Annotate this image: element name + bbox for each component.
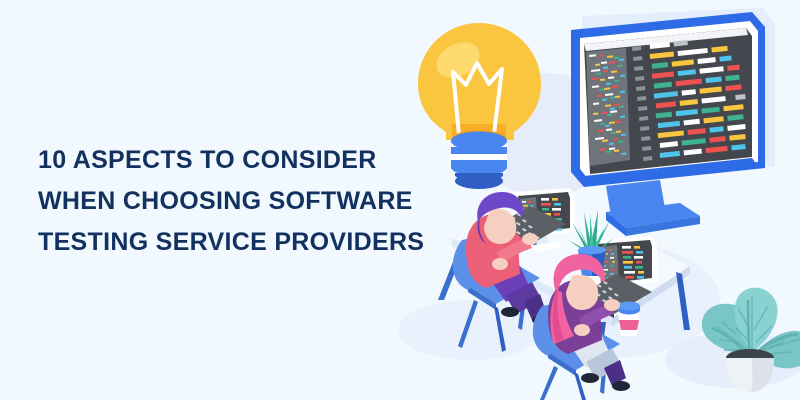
worker-back-left-shoe-2 (501, 307, 519, 317)
desk-plant-pot-rim (578, 246, 606, 254)
worker-back-left-hand-2 (492, 258, 508, 270)
worker-front-right-shoe-2 (581, 373, 599, 383)
headline-line-2: WHEN CHOOSING SOFTWARE (38, 181, 438, 222)
worker-back-left-hand (522, 233, 538, 245)
headline-line-1: 10 ASPECTS TO CONSIDER (38, 140, 438, 181)
worker-front-right-hand-2 (574, 324, 590, 336)
coffee-cup-lid-top (618, 302, 640, 311)
worker-front-right-hand (604, 299, 620, 311)
worker-front-right-shoe (612, 381, 630, 391)
coffee-cup (618, 302, 640, 337)
bulb-base (451, 130, 507, 189)
page-title: 10 ASPECTS TO CONSIDER WHEN CHOOSING SOF… (38, 140, 438, 263)
promotional-banner: 10 ASPECTS TO CONSIDER WHEN CHOOSING SOF… (0, 0, 800, 400)
headline-line-3: TESTING SERVICE PROVIDERS (38, 222, 438, 263)
coffee-cup-band (619, 320, 639, 330)
